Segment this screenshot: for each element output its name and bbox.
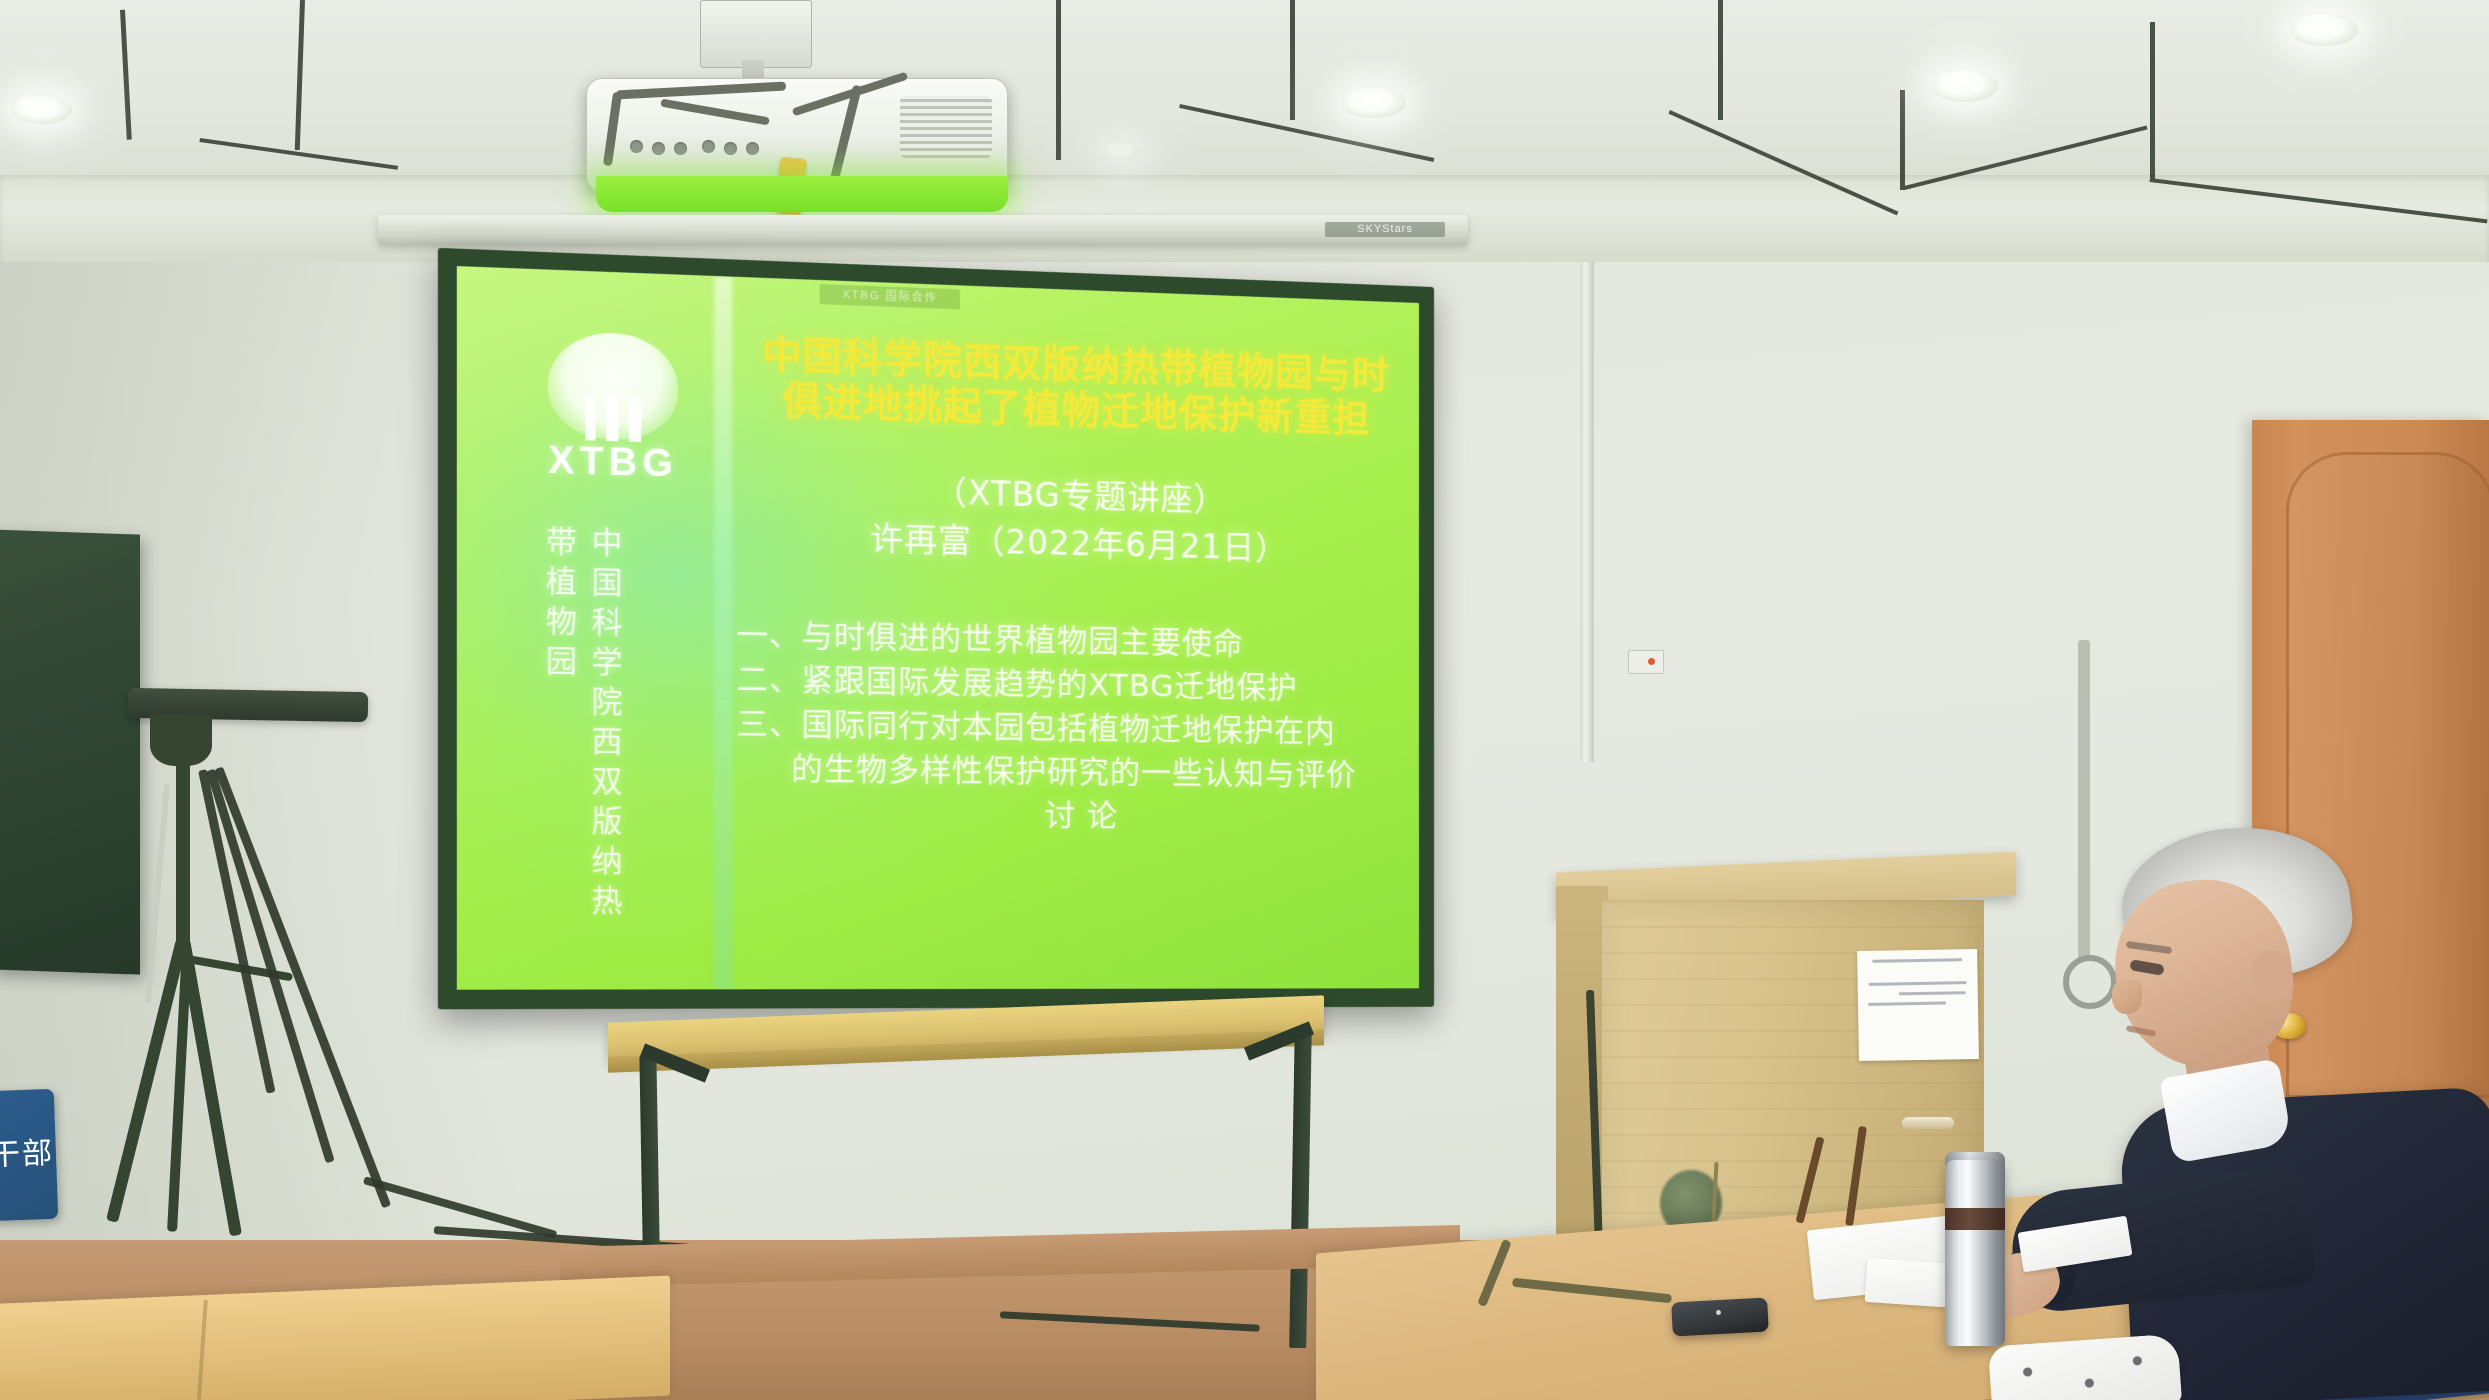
projection-screen-frame: XTBG 国际合作 XTBG 中国科学院西双版纳热带植物园 中国科学院西双版纳热…: [438, 248, 1434, 1009]
projector-knob: [724, 142, 737, 155]
wall-switch[interactable]: [1628, 650, 1664, 674]
ceiling-rail: [2150, 22, 2155, 182]
sign-text-line: [1868, 1002, 1946, 1006]
screen-light-streak: [714, 276, 732, 989]
slide-top-label: XTBG 国际合作: [820, 284, 960, 309]
ceiling-light: [2290, 14, 2358, 46]
thermos-band: [1945, 1208, 2005, 1230]
projector-mount: [700, 0, 812, 68]
slide-outline-item-discussion: 讨 论: [736, 791, 1413, 840]
ceiling-light-fixture: [378, 215, 1468, 245]
wall-switch-led-icon: [1648, 658, 1655, 665]
fixture-label: SKYStars: [1325, 222, 1445, 237]
xtbg-logo: XTBG: [530, 330, 695, 488]
tripod-center-column: [176, 756, 190, 956]
podium-handle[interactable]: [1902, 1117, 1954, 1129]
ceiling-light: [1932, 70, 1998, 102]
blackboard-panel: [0, 529, 140, 974]
ceiling-rail: [1056, 0, 1061, 160]
tree-trunks-icon: [579, 395, 647, 442]
logo-wordmark: XTBG: [530, 439, 695, 487]
projector-knob: [702, 140, 715, 153]
projector-vent: [900, 96, 992, 158]
ceiling-rail: [1718, 0, 1723, 120]
slide-content: 中国科学院西双版纳热带植物园与时 俱进地挑起了植物迁地保护新重担 （XTBG专题…: [736, 331, 1413, 840]
wall-conduit: [1580, 262, 1594, 762]
tree-logo-icon: [548, 331, 678, 441]
projector-knob: [630, 140, 643, 153]
thermos[interactable]: [1945, 1160, 2005, 1346]
seated-elderly-man: [2030, 828, 2489, 1400]
ceiling-rail: [1900, 90, 1905, 190]
ceiling-light: [1105, 144, 1139, 160]
lecture-room-scene: SKYStars XTBG 国际合作 XTBG 中国科学院西双版纳热带植物园 中…: [0, 0, 2489, 1400]
blue-wall-sign: 干部: [0, 1089, 58, 1221]
nose: [2112, 980, 2142, 1014]
projection-screen[interactable]: XTBG 国际合作 XTBG 中国科学院西双版纳热带植物园 中国科学院西双版纳热…: [457, 266, 1419, 990]
slide-vertical-institute-name: 中国科学院西双版纳热带植物园: [580, 526, 626, 955]
podium-notice-sign: [1857, 949, 1979, 1061]
ceiling-light: [12, 96, 72, 124]
projector-lens-glow: [596, 176, 1008, 212]
slide-outline-item-3b: 的生物多样性保护研究的一些认知与评价: [736, 747, 1413, 798]
projector-knob: [652, 142, 665, 155]
projector-knob: [746, 142, 759, 155]
handheld-device[interactable]: [1671, 1298, 1769, 1337]
ceiling-light: [1342, 88, 1406, 118]
device-indicator-icon: [1716, 1310, 1721, 1315]
ceiling-rail: [1290, 0, 1295, 120]
sign-text-line: [1899, 991, 1966, 995]
projector-knob: [674, 142, 687, 155]
sign-text-line: [1872, 958, 1963, 963]
sign-text-line: [1869, 981, 1966, 986]
